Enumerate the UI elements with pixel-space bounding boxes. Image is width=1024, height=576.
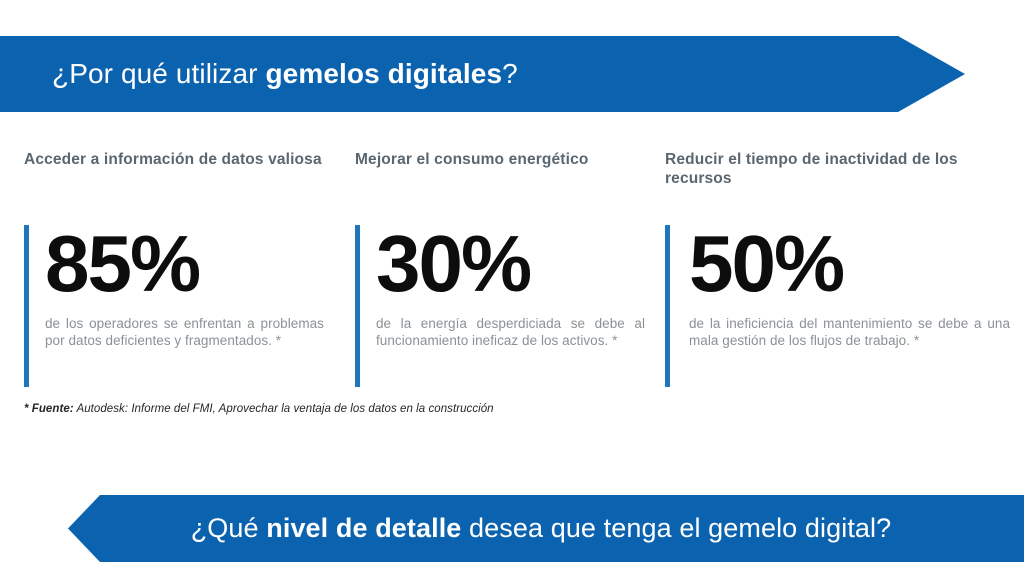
- stat-block-1-content: 85% de los operadores se enfrentan a pro…: [24, 227, 324, 349]
- accent-bar-icon-1: [24, 225, 29, 387]
- stat-block-2-content: 30% de la energía desperdiciada se debe …: [355, 227, 645, 349]
- source-footnote-label: Fuente:: [32, 403, 74, 415]
- stat-block-1: 85% de los operadores se enfrentan a pro…: [24, 225, 324, 387]
- column-heading-1-wrap: Acceder a información de datos valiosa: [24, 150, 324, 169]
- source-footnote-text: Autodesk: Informe del FMI, Aprovechar la…: [74, 403, 494, 415]
- stat-description-1: de los operadores se enfrentan a problem…: [45, 315, 324, 350]
- column-heading-3-wrap: Reducir el tiempo de inactividad de los …: [665, 150, 1010, 188]
- stat-description-3: de la ineficiencia del mantenimiento se …: [689, 315, 1010, 350]
- header-title-prefix: ¿Por qué utilizar: [52, 58, 265, 89]
- column-heading-1: Acceder a información de datos valiosa: [24, 150, 324, 169]
- accent-bar-icon-2: [355, 225, 360, 387]
- header-title-suffix: ?: [502, 58, 518, 89]
- stat-value-3: 50%: [689, 227, 1010, 301]
- footer-title-suffix: desea que tenga el gemelo digital?: [461, 513, 891, 543]
- stat-block-2: 30% de la energía desperdiciada se debe …: [355, 225, 645, 387]
- footer-title-prefix: ¿Qué: [191, 513, 267, 543]
- stat-block-3-content: 50% de la ineficiencia del mantenimiento…: [665, 227, 1010, 349]
- footer-title: ¿Qué nivel de detalle desea que tenga el…: [191, 513, 902, 544]
- footer-banner: ¿Qué nivel de detalle desea que tenga el…: [68, 495, 1024, 562]
- source-footnote: * Fuente: Autodesk: Informe del FMI, Apr…: [24, 403, 494, 415]
- stat-value-1: 85%: [45, 227, 324, 301]
- accent-bar-icon-3: [665, 225, 670, 387]
- column-heading-2-wrap: Mejorar el consumo energético: [355, 150, 645, 169]
- column-heading-3: Reducir el tiempo de inactividad de los …: [665, 150, 1010, 188]
- stat-value-2: 30%: [376, 227, 645, 301]
- stat-block-3: 50% de la ineficiencia del mantenimiento…: [665, 225, 1010, 387]
- column-heading-2: Mejorar el consumo energético: [355, 150, 645, 169]
- header-title: ¿Por qué utilizar gemelos digitales?: [0, 58, 518, 90]
- slide: ¿Por qué utilizar gemelos digitales? Acc…: [0, 0, 1024, 576]
- stat-description-2: de la energía desperdiciada se debe al f…: [376, 315, 645, 350]
- header-banner: ¿Por qué utilizar gemelos digitales?: [0, 36, 965, 112]
- header-title-bold: gemelos digitales: [265, 58, 502, 89]
- footer-title-bold: nivel de detalle: [266, 513, 461, 543]
- source-footnote-marker: *: [24, 403, 32, 415]
